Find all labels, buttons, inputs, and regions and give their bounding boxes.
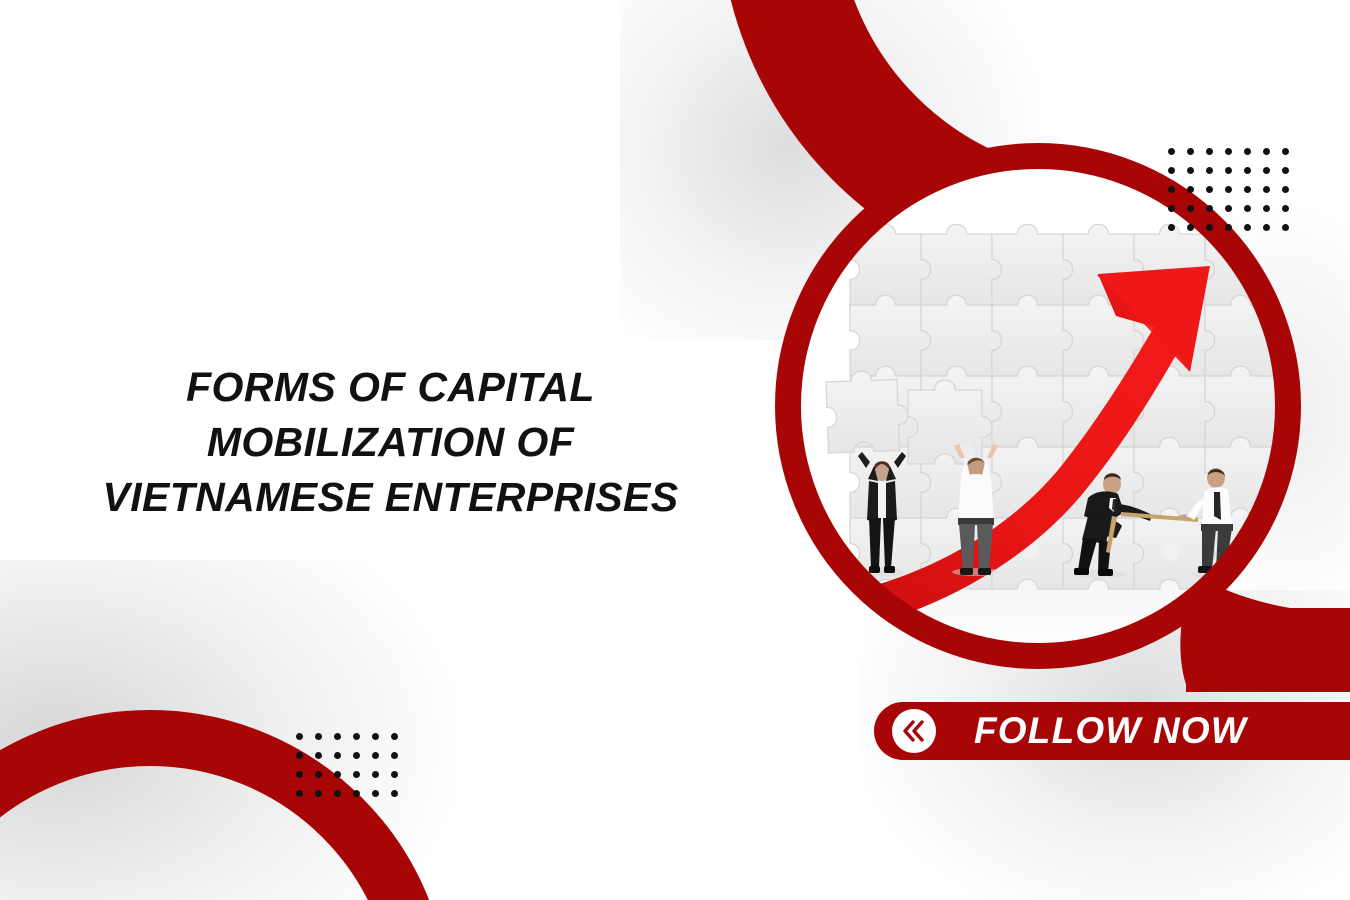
grid-dot bbox=[1263, 167, 1270, 174]
page-title: FORMS OF CAPITAL MOBILIZATION OF VIETNAM… bbox=[78, 360, 703, 525]
grid-dot bbox=[296, 733, 303, 740]
grid-dot bbox=[353, 733, 360, 740]
grid-dot bbox=[315, 790, 322, 797]
grid-dot bbox=[1244, 167, 1251, 174]
follow-now-button[interactable]: FOLLOW NOW bbox=[874, 702, 1350, 760]
grid-dot bbox=[334, 790, 341, 797]
grid-dot bbox=[1187, 224, 1194, 231]
grid-dot bbox=[1244, 205, 1251, 212]
grid-dot bbox=[391, 733, 398, 740]
grid-dot bbox=[315, 771, 322, 778]
grid-dot bbox=[1263, 205, 1270, 212]
title-line-3: VIETNAMESE ENTERPRISES bbox=[78, 470, 703, 525]
grid-dot bbox=[1225, 205, 1232, 212]
grid-dot bbox=[334, 771, 341, 778]
grid-dot bbox=[1244, 224, 1251, 231]
grid-dot bbox=[1168, 205, 1175, 212]
grid-dot bbox=[1263, 148, 1270, 155]
grid-dot bbox=[1168, 224, 1175, 231]
grid-dot bbox=[1187, 186, 1194, 193]
grid-dot bbox=[1282, 148, 1289, 155]
grid-dot bbox=[372, 733, 379, 740]
grid-dot bbox=[1168, 148, 1175, 155]
grid-dot bbox=[1282, 186, 1289, 193]
grid-dot bbox=[1187, 167, 1194, 174]
grid-dot bbox=[353, 771, 360, 778]
grid-dot bbox=[1206, 186, 1213, 193]
grid-dot bbox=[1225, 186, 1232, 193]
grid-dot bbox=[1168, 167, 1175, 174]
grid-dot bbox=[391, 771, 398, 778]
grid-dot bbox=[296, 790, 303, 797]
grid-dot bbox=[1206, 205, 1213, 212]
grid-dot bbox=[1225, 224, 1232, 231]
grid-dot bbox=[372, 790, 379, 797]
follow-now-label: FOLLOW NOW bbox=[974, 702, 1247, 760]
grid-dot bbox=[372, 771, 379, 778]
grid-dot bbox=[1282, 224, 1289, 231]
grid-dot bbox=[1244, 186, 1251, 193]
grid-dot bbox=[1168, 186, 1175, 193]
grid-dot bbox=[315, 733, 322, 740]
grid-dot bbox=[315, 752, 322, 759]
grid-dot bbox=[391, 752, 398, 759]
dot-grid-bottom-left bbox=[296, 733, 398, 797]
grid-dot bbox=[1206, 224, 1213, 231]
grid-dot bbox=[391, 790, 398, 797]
grid-dot bbox=[334, 733, 341, 740]
grid-dot bbox=[372, 752, 379, 759]
grid-dot bbox=[1282, 167, 1289, 174]
poster-canvas: FORMS OF CAPITAL MOBILIZATION OF VIETNAM… bbox=[0, 0, 1350, 900]
grid-dot bbox=[1206, 167, 1213, 174]
grid-dot bbox=[353, 790, 360, 797]
double-chevron-left-icon[interactable] bbox=[892, 709, 936, 753]
grid-dot bbox=[1225, 167, 1232, 174]
dot-grid-top-right bbox=[1168, 148, 1289, 231]
grid-dot bbox=[1263, 224, 1270, 231]
grid-dot bbox=[1244, 148, 1251, 155]
grid-dot bbox=[296, 771, 303, 778]
grid-dot bbox=[1225, 148, 1232, 155]
grid-dot bbox=[1282, 205, 1289, 212]
grid-dot bbox=[1187, 205, 1194, 212]
grid-dot bbox=[1187, 148, 1194, 155]
grid-dot bbox=[334, 752, 341, 759]
title-line-1: FORMS OF CAPITAL bbox=[78, 360, 703, 415]
grid-dot bbox=[353, 752, 360, 759]
grid-dot bbox=[1263, 186, 1270, 193]
grid-dot bbox=[1206, 148, 1213, 155]
grid-dot bbox=[296, 752, 303, 759]
title-line-2: MOBILIZATION OF bbox=[78, 415, 703, 470]
